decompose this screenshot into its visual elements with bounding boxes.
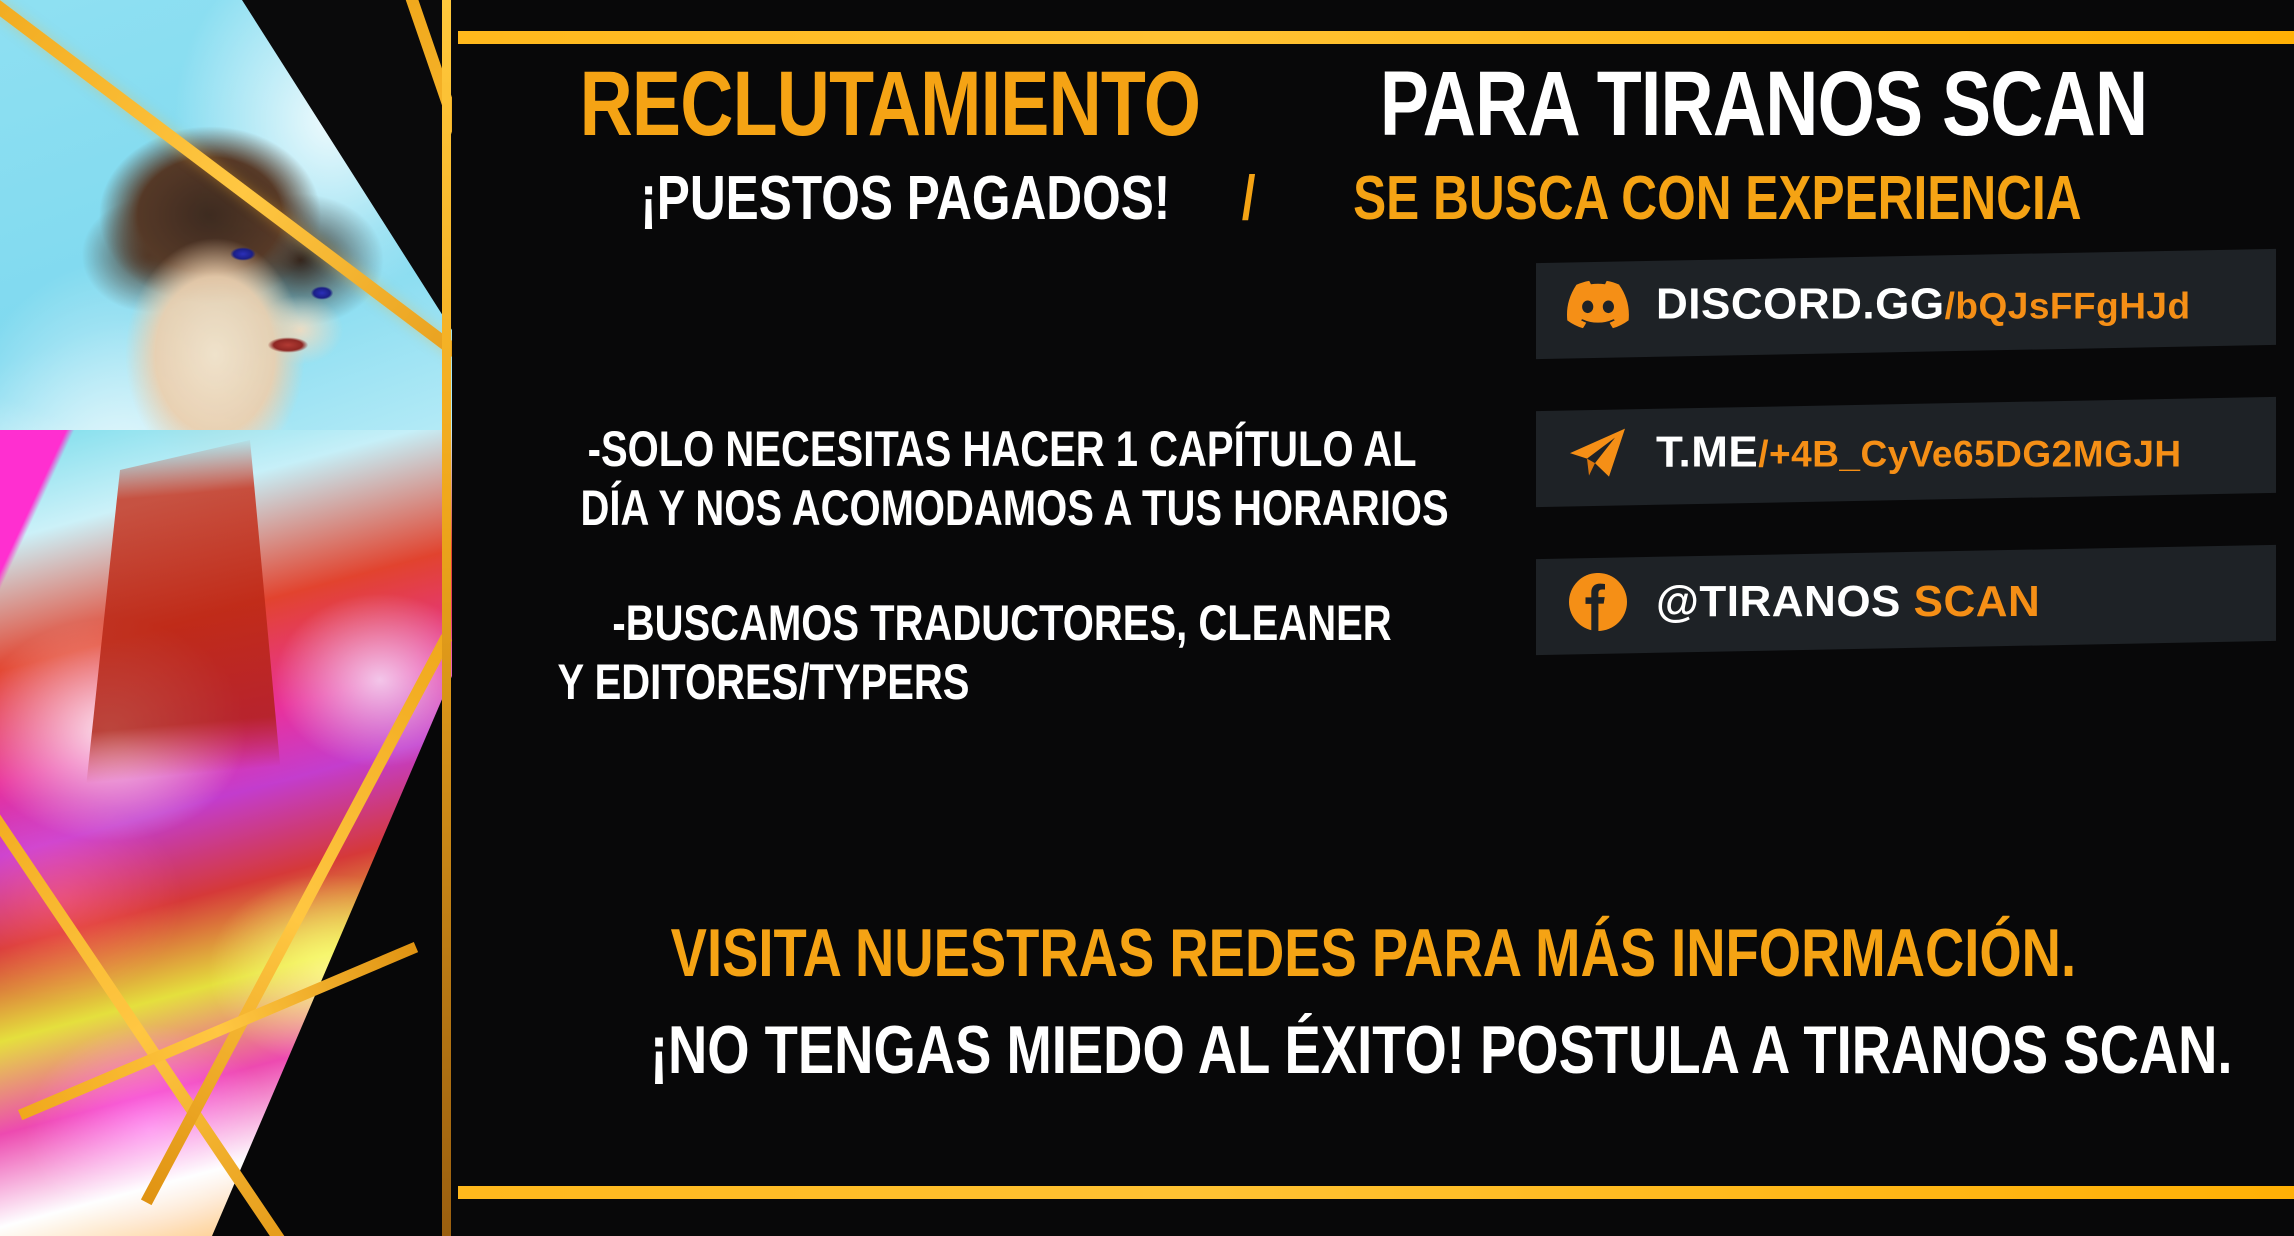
contact-card-telegram[interactable]: T.ME/+4B_CyVe65DG2MGJH	[1536, 397, 2276, 507]
telegram-domain: T.ME	[1656, 428, 1758, 477]
contact-card-discord[interactable]: DISCORD.GG/bQJsFFgHJd	[1536, 249, 2276, 359]
body-block-schedule: -SOLO NECESITAS HACER 1 CAPÍTULO AL DÍA …	[472, 420, 1532, 538]
facebook-icon	[1566, 570, 1630, 634]
body-line: -BUSCAMOS TRADUCTORES, CLEANER	[612, 594, 1391, 653]
cta-line-1-wrap: VISITA NUESTRAS REDES PARA MÁS INFORMACI…	[452, 918, 2294, 989]
headline-orange: RECLUTAMIENTO	[580, 58, 1201, 150]
facebook-handle-suffix: SCAN	[1901, 577, 2040, 626]
contact-cards: DISCORD.GG/bQJsFFgHJd T.ME/+4B_CyVe65DG2…	[1536, 256, 2276, 700]
body-line: Y EDITORES/TYPERS	[557, 653, 969, 712]
body-line: -SOLO NECESITAS HACER 1 CAPÍTULO AL	[588, 420, 1417, 479]
contact-card-facebook[interactable]: @TIRANOS SCAN	[1536, 545, 2276, 655]
artwork-gold-edge	[442, 0, 451, 1236]
subheadline-white: ¡PUESTOS PAGADOS!	[640, 168, 1170, 230]
discord-domain: DISCORD.GG	[1656, 280, 1945, 329]
subheadline-orange: SE BUSCA CON EXPERIENCIA	[1353, 168, 2082, 230]
telegram-icon	[1566, 421, 1630, 485]
recruitment-banner: RECLUTAMIENTOPARA TIRANOS SCAN ¡PUESTOS …	[0, 0, 2294, 1236]
discord-icon	[1566, 273, 1630, 337]
artwork-panel	[0, 0, 452, 1236]
body-copy: -SOLO NECESITAS HACER 1 CAPÍTULO AL DÍA …	[472, 420, 1532, 768]
telegram-invite-code: /+4B_CyVe65DG2MGJH	[1758, 434, 2181, 475]
body-block-roles: -BUSCAMOS TRADUCTORES, CLEANER Y EDITORE…	[472, 594, 1532, 712]
cta-line-1: VISITA NUESTRAS REDES PARA MÁS INFORMACI…	[670, 918, 2075, 989]
cta-line-2-wrap: ¡NO TENGAS MIEDO AL ÉXITO! POSTULA A TIR…	[452, 1015, 2294, 1086]
headline-white: PARA TIRANOS SCAN	[1380, 58, 2147, 150]
discord-invite-code: /bQJsFFgHJd	[1945, 286, 2191, 327]
content-area: RECLUTAMIENTOPARA TIRANOS SCAN ¡PUESTOS …	[452, 0, 2294, 1236]
cta-line-2: ¡NO TENGAS MIEDO AL ÉXITO! POSTULA A TIR…	[650, 1015, 2233, 1086]
headline: RECLUTAMIENTOPARA TIRANOS SCAN	[452, 58, 2294, 150]
body-line: DÍA Y NOS ACOMODAMOS A TUS HORARIOS	[581, 479, 1449, 538]
subheadline: ¡PUESTOS PAGADOS!/SE BUSCA CON EXPERIENC…	[452, 168, 2294, 230]
call-to-action: VISITA NUESTRAS REDES PARA MÁS INFORMACI…	[452, 918, 2294, 1087]
subheadline-separator: /	[1242, 168, 1256, 230]
facebook-handle: @TIRANOS	[1656, 577, 1901, 626]
